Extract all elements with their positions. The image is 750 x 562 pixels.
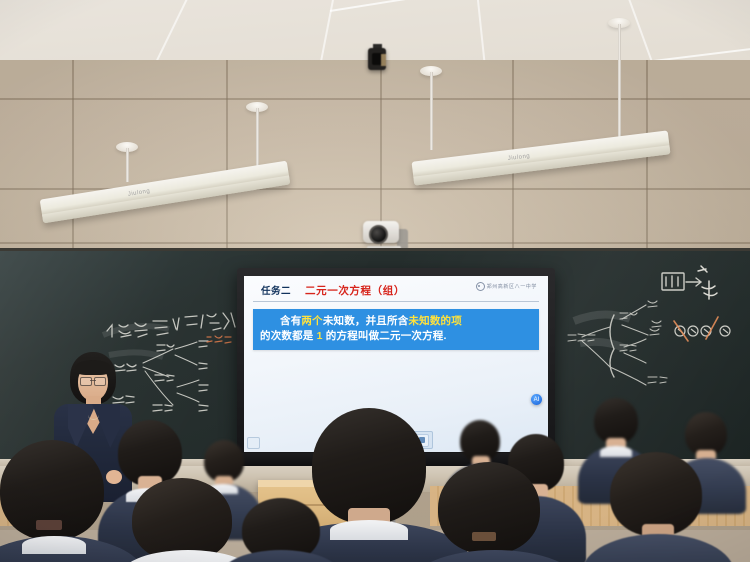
ai-assistant-label: AI: [534, 397, 540, 403]
glasses-icon: [80, 377, 106, 384]
slide-task-label: 任务二: [261, 283, 291, 297]
student-front-6: [232, 498, 328, 562]
logo-ring-icon: [476, 282, 485, 291]
school-logo-text: 郑州高新区八一中学: [487, 283, 537, 290]
def-line2-highlight: 1: [317, 330, 323, 342]
hair-tie: [36, 520, 62, 530]
ceiling-camera-icon: [366, 44, 390, 74]
student-front-3: [122, 478, 250, 562]
def-line1-highlight2: 未知数的项: [408, 315, 462, 327]
def-line2-post: 的方程叫做二元一次方程.: [326, 330, 447, 342]
ai-assistant-button[interactable]: AI: [531, 394, 542, 405]
student-front-2: [0, 440, 122, 562]
def-line2-pre: 的次数都是: [260, 330, 314, 342]
slide-title: 二元一次方程（组）: [305, 283, 405, 298]
light-fixture-right: Jiulong: [412, 118, 672, 188]
definition-box: 含有两个未知数，并且所含未知数的项 的次数都是 1 的方程叫做二元一次方程.: [253, 309, 539, 350]
student-front-5: [598, 452, 714, 562]
hair-tie-2: [472, 532, 496, 541]
fixture-brand-right: Jiulong: [508, 153, 531, 162]
light-fixture-left: Jiulong: [40, 150, 290, 220]
slide-header: 任务二 二元一次方程（组） 郑州高新区八一中学: [253, 283, 539, 302]
school-logo: 郑州高新区八一中学: [476, 282, 537, 291]
fixture-brand-left: Jiulong: [128, 188, 151, 197]
necklace: [88, 410, 99, 420]
student-front-4: [428, 462, 558, 562]
def-line1-pre: 含有: [280, 315, 301, 327]
def-line1-mid: 未知数，并且所含: [323, 315, 409, 327]
classroom-photo: Jiulong Jiulong: [0, 0, 750, 562]
def-line1-highlight: 两个: [301, 315, 322, 327]
